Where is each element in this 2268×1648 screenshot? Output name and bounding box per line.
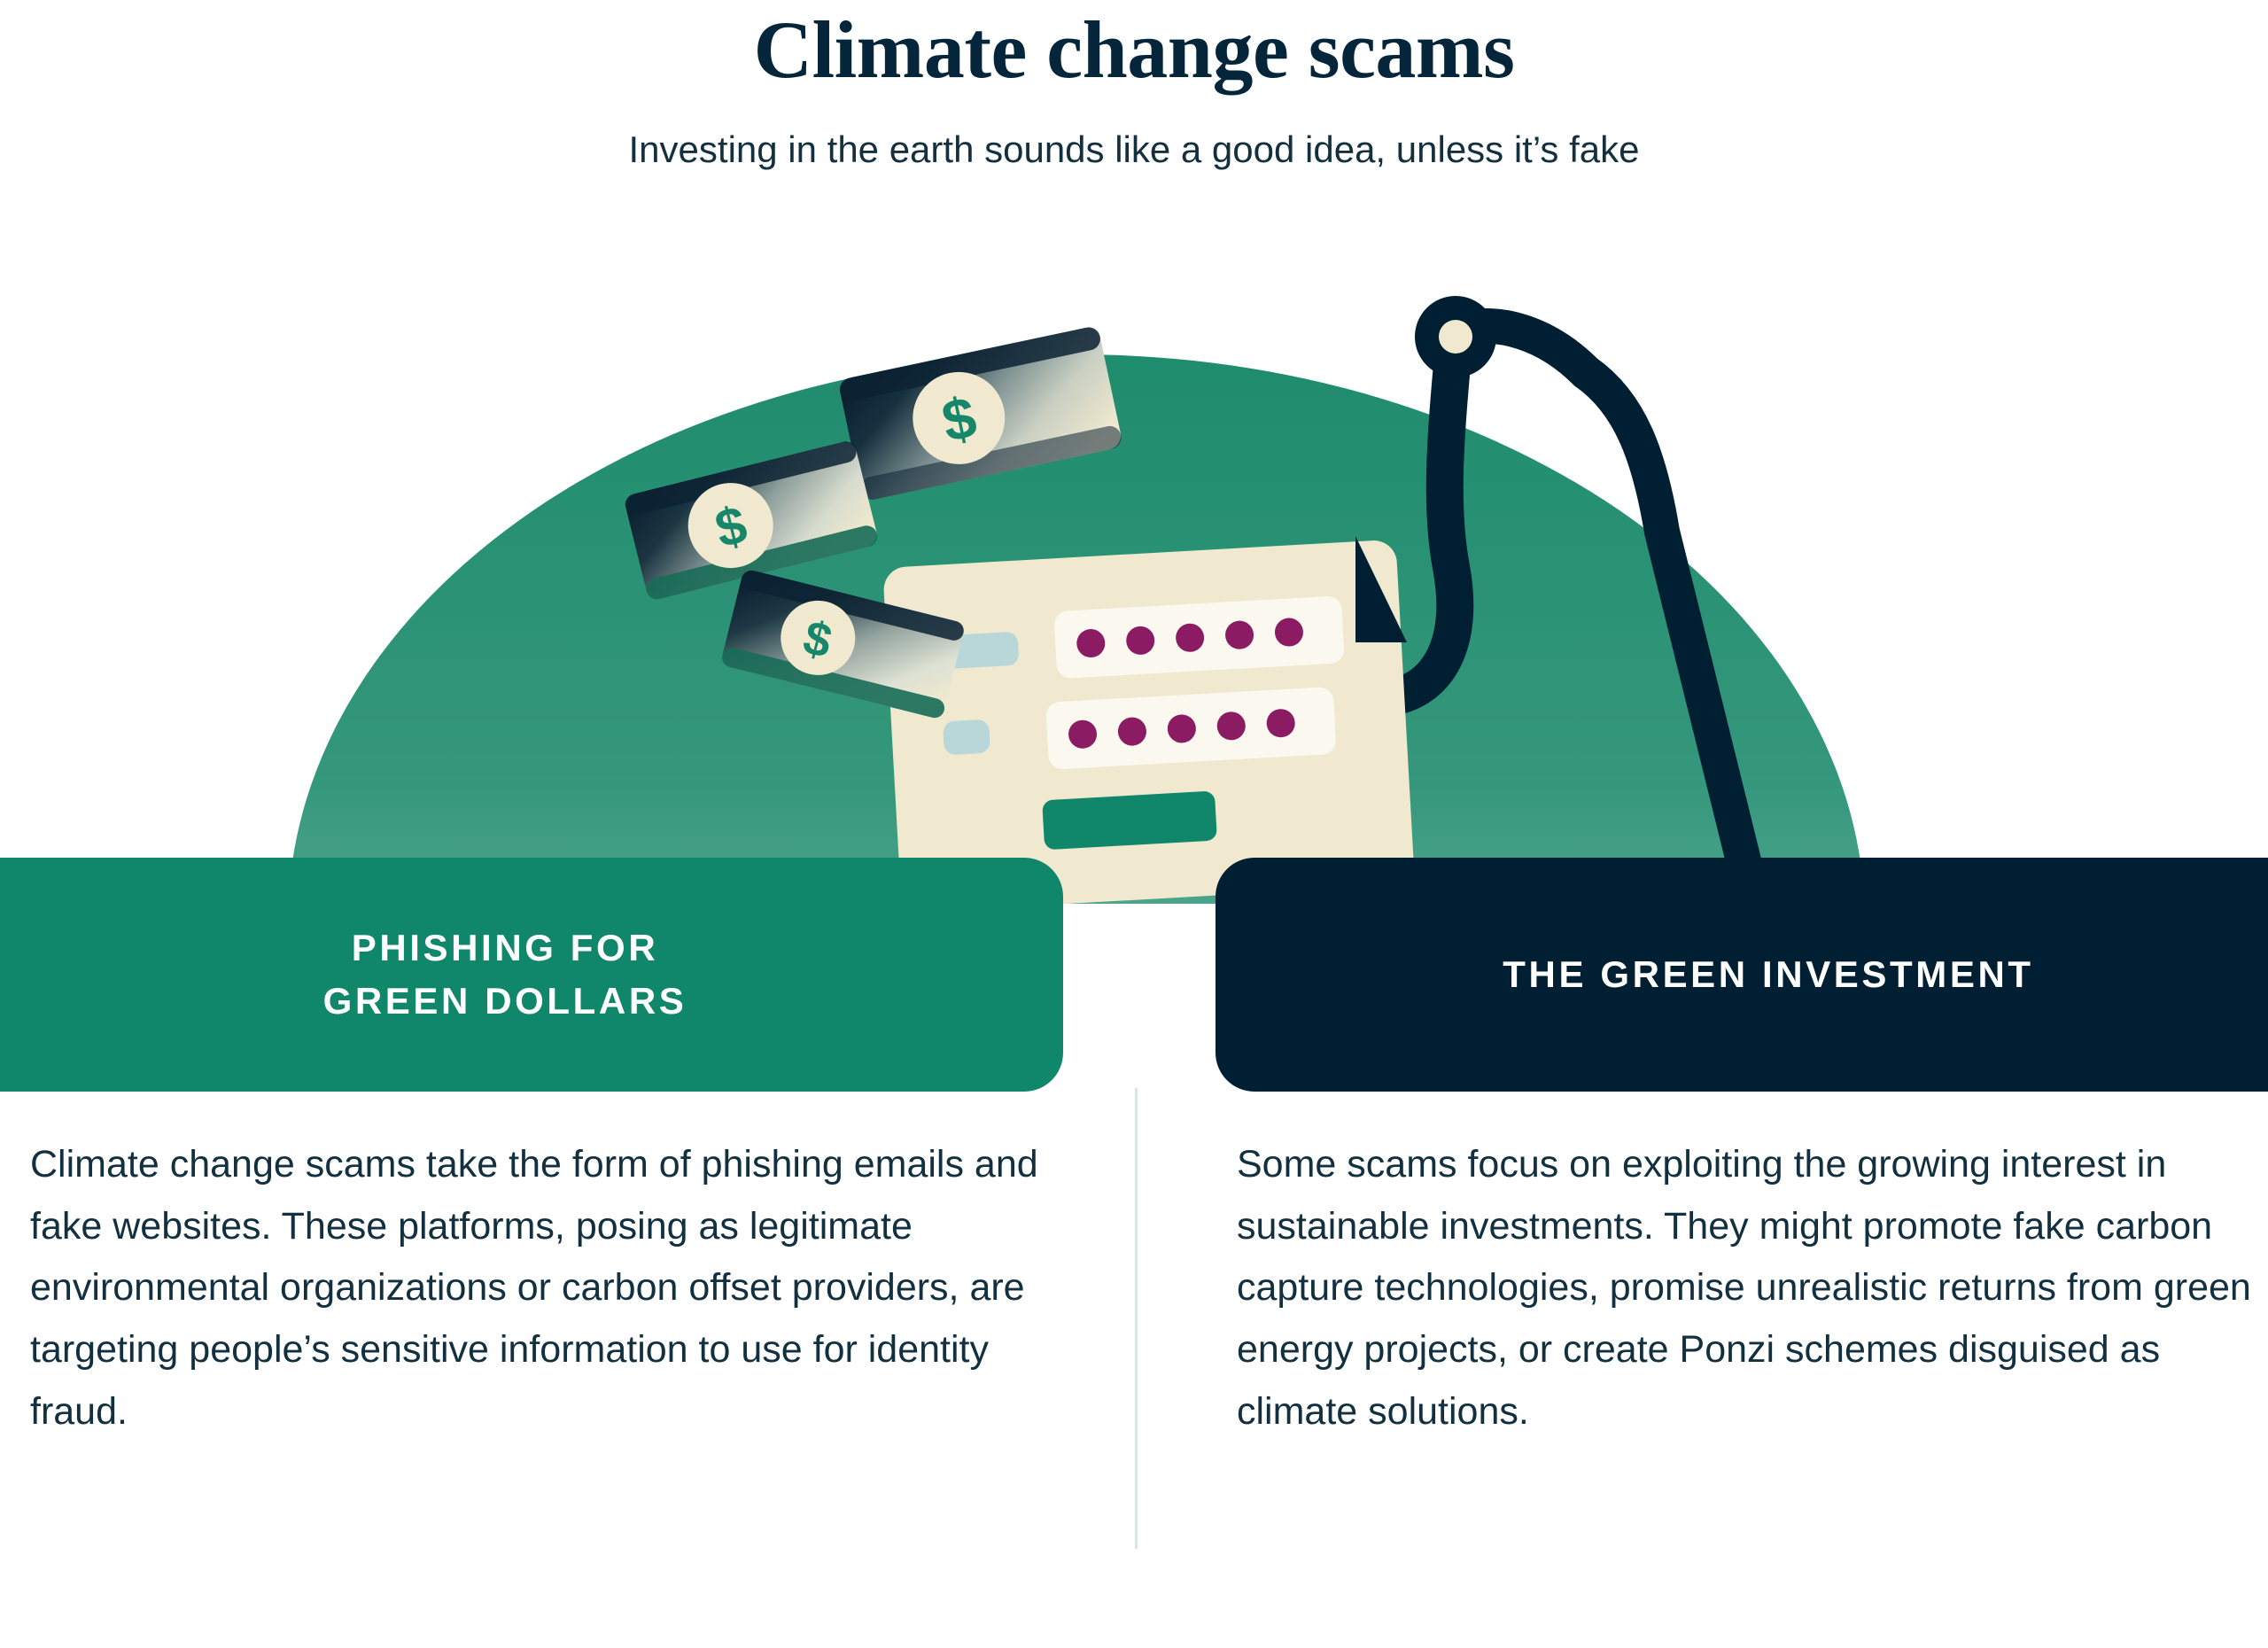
banner-phishing-label: PHISHING FOR GREEN DOLLARS (288, 921, 723, 1027)
form-label-chip (943, 719, 990, 756)
infographic-page: Climate change scams Investing in the ea… (0, 0, 2268, 1648)
login-form-card (882, 540, 1415, 904)
banner-phishing-for-green-dollars[interactable]: PHISHING FOR GREEN DOLLARS (0, 858, 1063, 1092)
banner-row: PHISHING FOR GREEN DOLLARS THE GREEN INV… (0, 858, 2268, 1092)
banner-investment-label: THE GREEN INVESTMENT (1467, 948, 2069, 1001)
column-phishing-body: Climate change scams take the form of ph… (30, 1134, 1049, 1442)
column-investment-body: Some scams focus on exploiting the growi… (1237, 1134, 2256, 1442)
column-divider (1135, 1088, 1138, 1549)
banner-the-green-investment[interactable]: THE GREEN INVESTMENT (1216, 858, 2268, 1092)
body-columns: Climate change scams take the form of ph… (0, 1134, 2268, 1630)
column-investment: Some scams focus on exploiting the growi… (1237, 1134, 2256, 1442)
page-subtitle: Investing in the earth sounds like a goo… (0, 127, 2268, 174)
illustration-svg: $ $ $ (0, 248, 2268, 904)
column-phishing: Climate change scams take the form of ph… (30, 1134, 1049, 1442)
illustration: $ $ $ (0, 248, 2268, 904)
hook-eyelet (1415, 296, 1496, 377)
form-submit-button (1042, 791, 1217, 851)
page-title: Climate change scams (0, 7, 2268, 93)
header: Climate change scams Investing in the ea… (0, 0, 2268, 173)
